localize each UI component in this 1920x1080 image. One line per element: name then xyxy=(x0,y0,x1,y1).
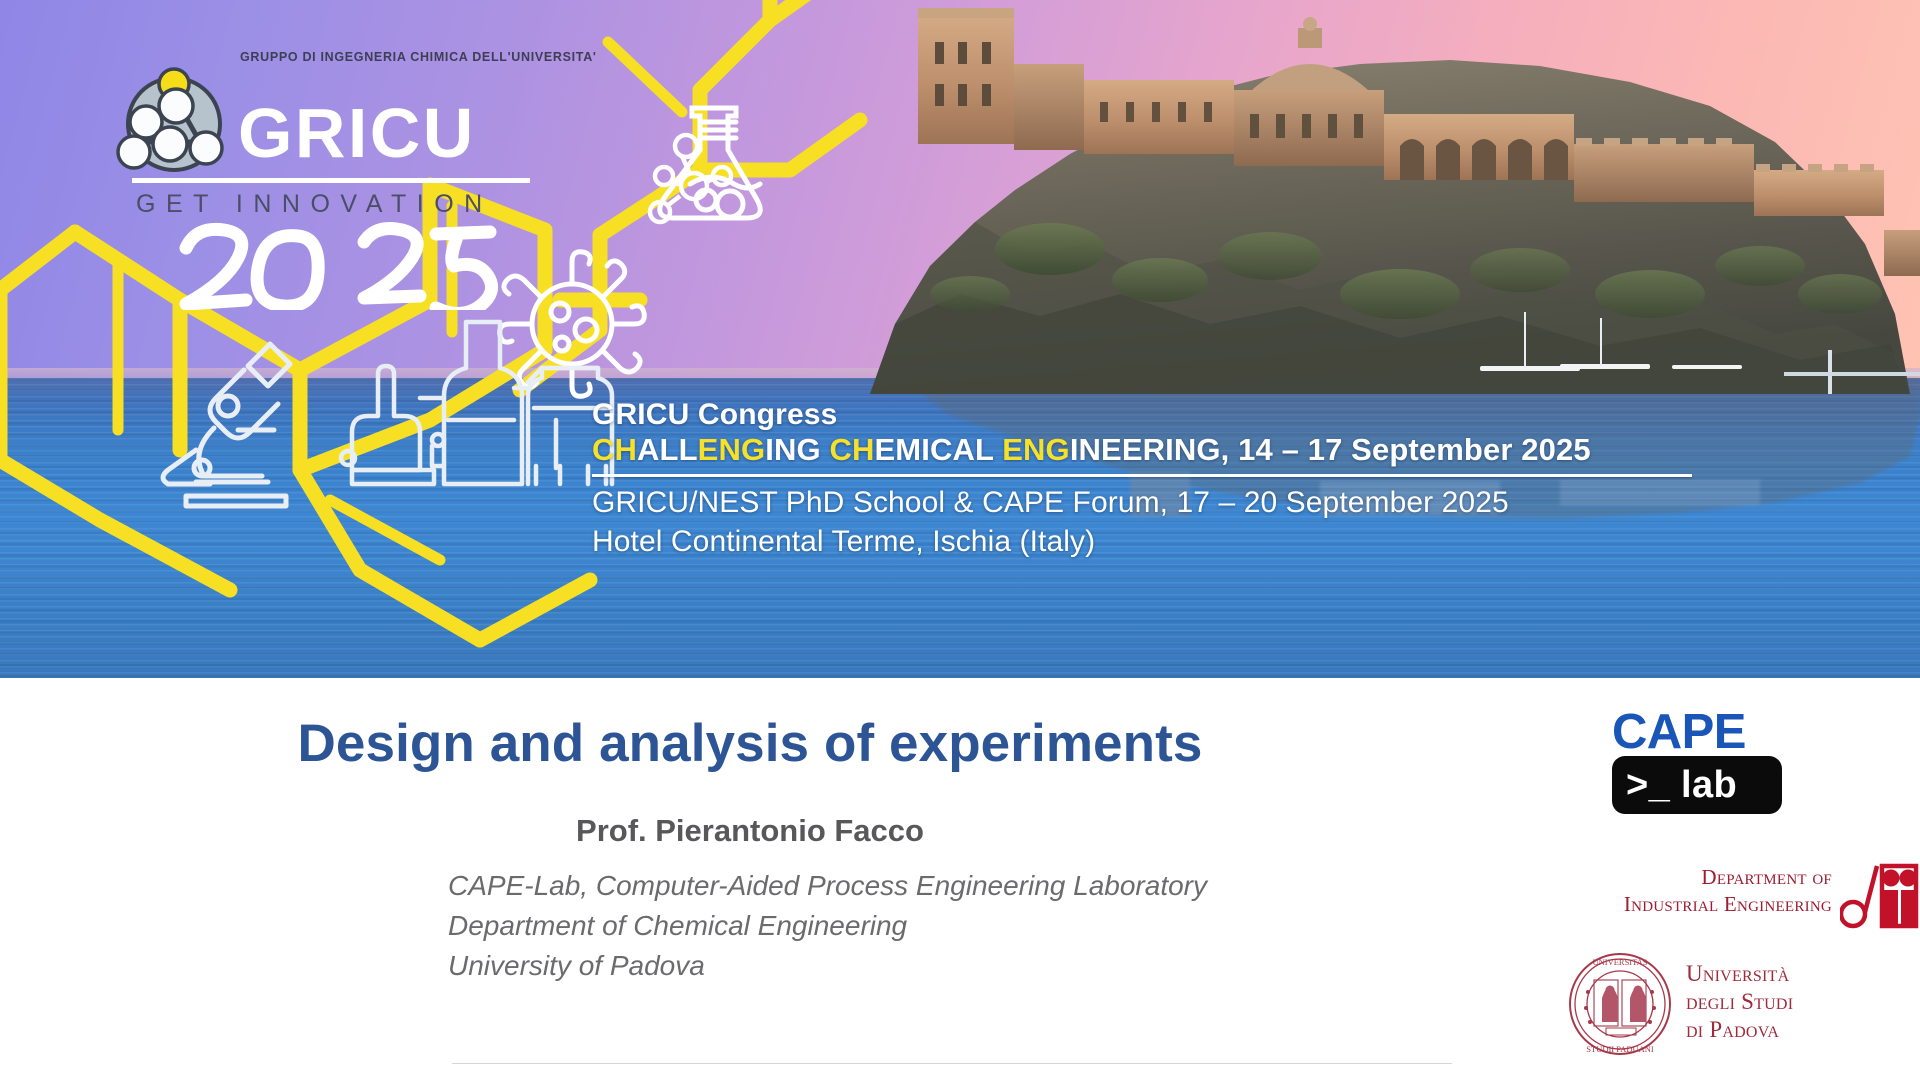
dii-logo: Department of Industrial Engineering xyxy=(1530,862,1920,940)
unipd-line-2: degli Studi xyxy=(1686,988,1920,1016)
dii-mark-icon xyxy=(1840,860,1920,932)
gricu-logo: GRUPPO DI INGEGNERIA CHIMICA DELL'UNIVER… xyxy=(130,40,550,280)
affiliation-line-3: University of Padova xyxy=(448,946,1448,986)
unipd-seal-icon: UNIVERSITAS STUDII PADUANI xyxy=(1568,952,1672,1056)
cape-lab-logo: CAPE >_ lab xyxy=(1612,708,1792,848)
affiliation-block: CAPE-Lab, Computer-Aided Process Enginee… xyxy=(448,866,1448,985)
gricu-molecule-icon xyxy=(114,62,244,182)
theme-seg-7: INEERING, 14 – 17 September 2025 xyxy=(1070,432,1591,467)
gricu-divider xyxy=(132,178,530,183)
theme-seg-5: EMICAL xyxy=(875,432,1003,467)
gricu-wordmark: GRICU xyxy=(238,98,476,168)
congress-line-1: GRICU Congress xyxy=(592,398,1712,432)
congress-banner: GRUPPO DI INGEGNERIA CHIMICA DELL'UNIVER… xyxy=(0,0,1920,678)
cape-wordmark: CAPE xyxy=(1612,708,1792,757)
theme-seg-1: ALL xyxy=(637,432,698,467)
dii-logo-text: Department of Industrial Engineering xyxy=(1542,864,1832,918)
theme-seg-0: CH xyxy=(592,432,637,467)
theme-seg-4: CH xyxy=(829,432,874,467)
gricu-logo-tagline: GRUPPO DI INGEGNERIA CHIMICA DELL'UNIVER… xyxy=(240,50,597,64)
congress-divider xyxy=(592,474,1692,477)
affiliation-line-2: Department of Chemical Engineering xyxy=(448,906,1448,946)
theme-seg-3: ING xyxy=(765,432,829,467)
unipd-line-1: Università xyxy=(1686,960,1920,988)
unipd-logo: UNIVERSITAS STUDII PADUANI Università de… xyxy=(1568,952,1920,1062)
theme-seg-6: ENG xyxy=(1002,432,1070,467)
dii-line-1: Department of xyxy=(1542,864,1832,891)
svg-text:STUDII PADUANI: STUDII PADUANI xyxy=(1586,1044,1654,1054)
gricu-subtitle: GET INNOVATION xyxy=(136,190,493,219)
affiliation-line-1: CAPE-Lab, Computer-Aided Process Enginee… xyxy=(448,866,1448,906)
gricu-year-script xyxy=(168,220,508,310)
unipd-line-3: di Padova xyxy=(1686,1016,1920,1044)
svg-text:UNIVERSITAS: UNIVERSITAS xyxy=(1592,957,1647,967)
presenter-name: Prof. Pierantonio Facco xyxy=(0,813,1500,849)
congress-line-4: Hotel Continental Terme, Ischia (Italy) xyxy=(592,522,1712,561)
congress-info-block: GRICU Congress CHALLENGING CHEMICAL ENGI… xyxy=(592,398,1712,561)
unipd-logo-text: Università degli Studi di Padova xyxy=(1686,960,1920,1044)
page-title: Design and analysis of experiments xyxy=(0,713,1500,774)
cape-terminal-text: >_ lab xyxy=(1626,761,1737,810)
dii-line-2: Industrial Engineering xyxy=(1542,891,1832,918)
cape-terminal-box: >_ lab xyxy=(1612,756,1782,814)
theme-seg-2: ENG xyxy=(698,432,766,467)
congress-theme-line: CHALLENGING CHEMICAL ENGINEERING, 14 – 1… xyxy=(592,432,1712,469)
congress-line-3: GRICU/NEST PhD School & CAPE Forum, 17 –… xyxy=(592,483,1712,522)
content-divider xyxy=(452,1063,1452,1064)
